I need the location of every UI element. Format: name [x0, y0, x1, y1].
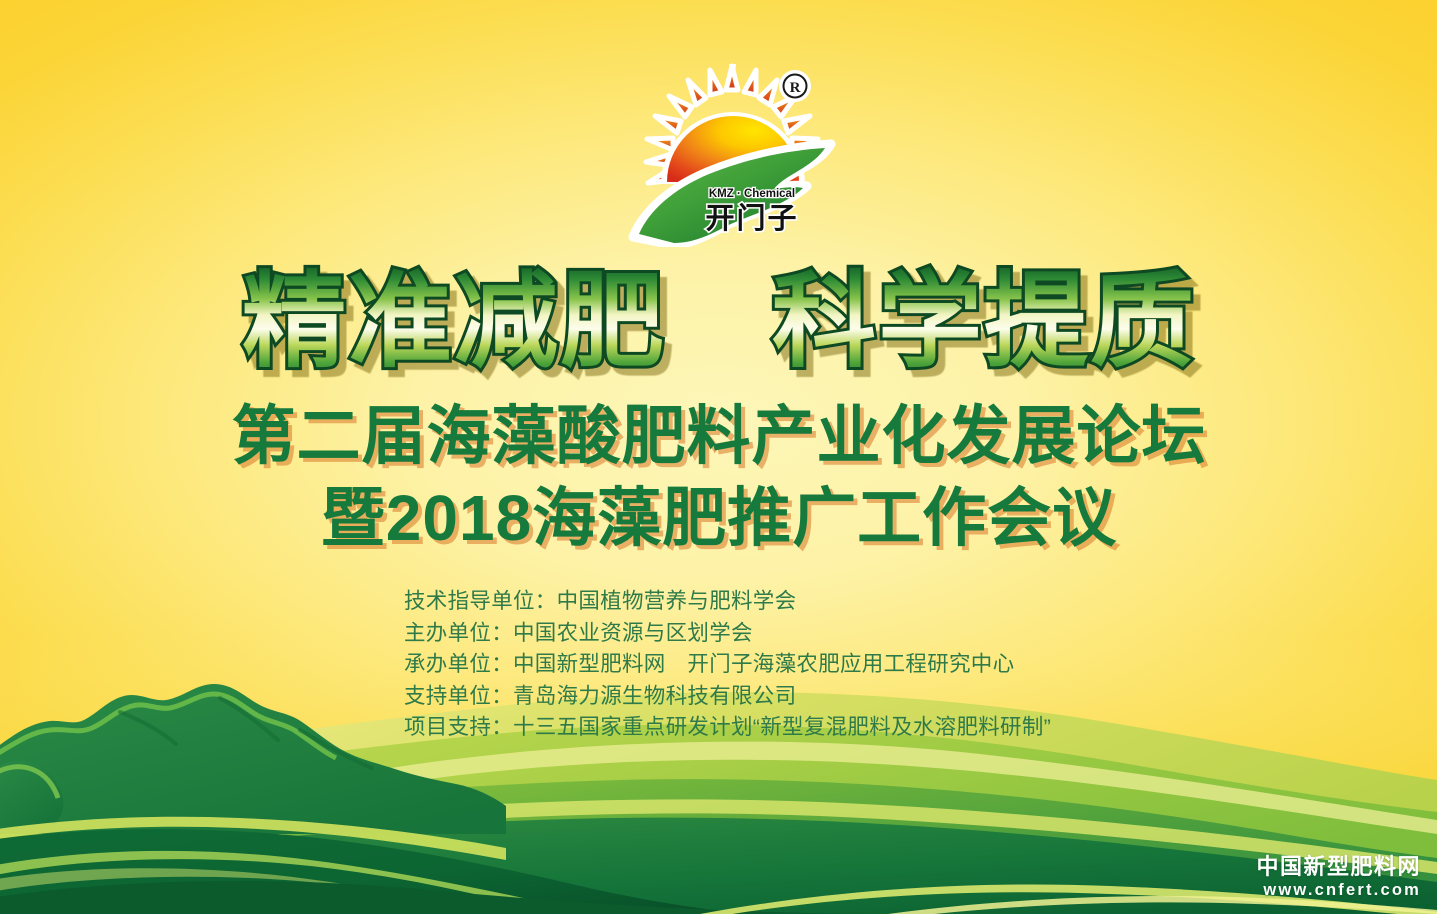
detail-line-project-support: 项目支持：十三五国家重点研发计划“新型复混肥料及水溶肥料研制”: [404, 712, 1184, 744]
watermark-site-name: 中国新型肥料网: [1256, 854, 1421, 880]
detail-line-technical-guidance: 技术指导单位：中国植物营养与肥料学会: [404, 586, 1184, 618]
subtitle-line-2: 暨2018海藻肥推广工作会议: [320, 482, 1116, 554]
headline-text: 精准减肥 科学提质: [241, 264, 1195, 380]
logo-brand-cn: 开门子: [705, 202, 798, 235]
conference-banner: R KMZ · Chemical 开门子: [0, 0, 1437, 914]
subtitle-line-1-wrapper: 第二届海藻酸肥料产业化发展论坛 第二届海藻酸肥料产业化发展论坛: [0, 398, 1437, 482]
subtitle-line-1: 第二届海藻酸肥料产业化发展论坛: [231, 400, 1206, 472]
subtitle-line-1-graphic: 第二届海藻酸肥料产业化发展论坛 第二届海藻酸肥料产业化发展论坛: [179, 398, 1259, 478]
watermark-url: www.cnfert.com: [1256, 880, 1421, 900]
site-watermark: 中国新型肥料网 www.cnfert.com: [1256, 854, 1421, 900]
headline-wrapper: 精准减肥 科学提质: [0, 258, 1437, 390]
registered-trademark-icon: R: [779, 70, 811, 102]
subtitle-line-2-graphic: 暨2018海藻肥推广工作会议 暨2018海藻肥推广工作会议: [219, 480, 1219, 560]
logo-brand-latin: KMZ · Chemical: [709, 188, 795, 200]
detail-line-organizer: 承办单位：中国新型肥料网 开门子海藻农肥应用工程研究中心: [404, 649, 1184, 681]
detail-line-supporter: 支持单位：青岛海力源生物科技有限公司: [404, 681, 1184, 713]
organizer-details: 技术指导单位：中国植物营养与肥料学会 主办单位：中国农业资源与区划学会 承办单位…: [404, 586, 1184, 744]
svg-text:R: R: [790, 80, 801, 96]
headline-graphic: 精准减肥 科学提质: [189, 258, 1249, 386]
subtitle-line-2-wrapper: 暨2018海藻肥推广工作会议 暨2018海藻肥推广工作会议: [0, 480, 1437, 564]
logo: R KMZ · Chemical 开门子: [625, 62, 840, 247]
detail-line-host: 主办单位：中国农业资源与区划学会: [404, 618, 1184, 650]
